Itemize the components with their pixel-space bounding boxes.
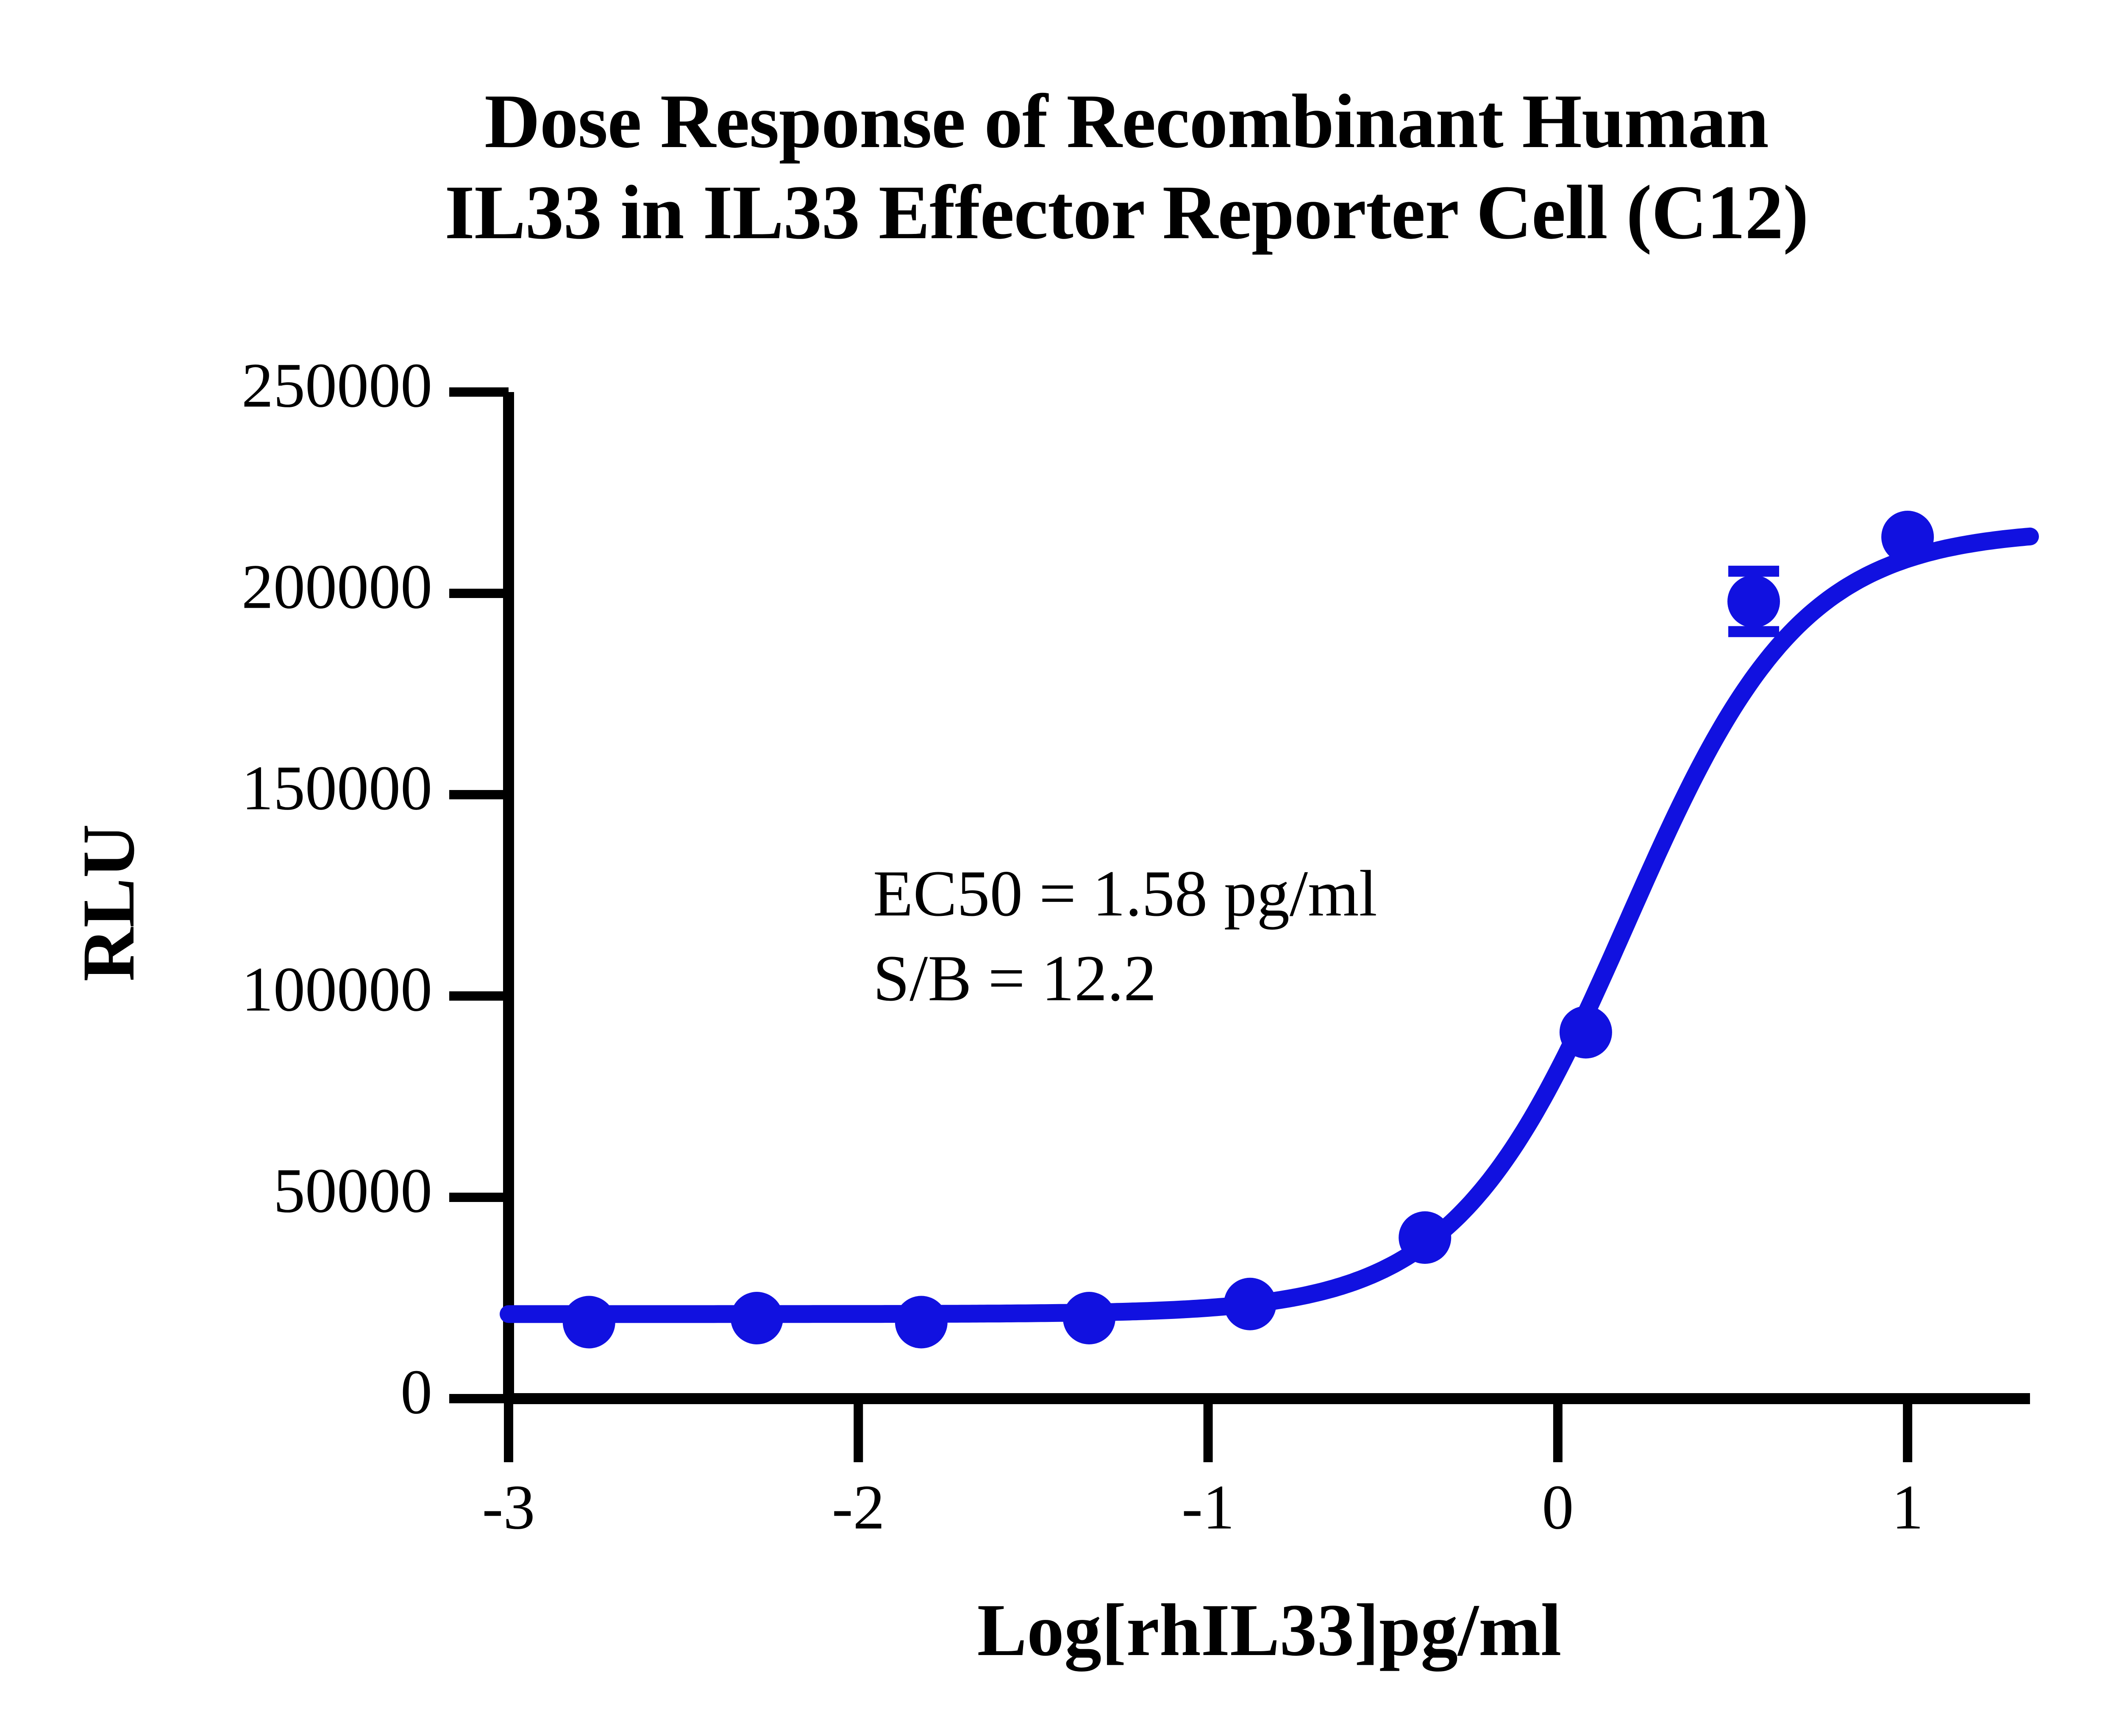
- y-tick-marks: [449, 392, 509, 1399]
- y-tick-label: 200000: [242, 551, 432, 622]
- x-tick-label: 1: [1892, 1472, 1924, 1542]
- ec50-annotation: EC50 = 1.58 pg/ml: [873, 857, 1377, 930]
- data-point-marker: [1727, 575, 1780, 628]
- y-tick-label: 150000: [242, 753, 432, 823]
- plot-area: 050000100000150000200000250000 -3-2-101 …: [0, 0, 2119, 1736]
- data-point-marker: [563, 1296, 615, 1349]
- y-tick-label: 100000: [242, 954, 432, 1024]
- y-tick-label: 50000: [273, 1155, 432, 1226]
- y-tick-labels: 050000100000150000200000250000: [242, 350, 432, 1427]
- y-tick-label: 0: [400, 1357, 432, 1427]
- sb-annotation: S/B = 12.2: [873, 942, 1157, 1015]
- x-tick-label: -1: [1182, 1472, 1235, 1542]
- data-point-marker: [1224, 1278, 1276, 1330]
- x-tick-label: -2: [832, 1472, 885, 1542]
- x-axis-title: Log[rhIL33]pg/ml: [977, 1589, 1562, 1672]
- annotation-block: EC50 = 1.58 pg/ml S/B = 12.2: [873, 857, 1377, 1015]
- x-tick-label: 0: [1542, 1472, 1574, 1542]
- data-point-marker: [1560, 1006, 1612, 1059]
- data-point-marker: [1399, 1211, 1451, 1264]
- y-axis-title: RLU: [67, 824, 150, 982]
- x-tick-label: -3: [482, 1472, 535, 1542]
- data-point-marker: [1881, 511, 1934, 563]
- data-point-marker: [1063, 1292, 1115, 1344]
- data-point-marker: [895, 1296, 948, 1349]
- x-tick-labels: -3-2-101: [482, 1472, 1924, 1542]
- y-tick-label: 250000: [242, 350, 432, 420]
- data-point-marker: [731, 1292, 783, 1344]
- x-tick-marks: [509, 1399, 1908, 1462]
- chart-figure: Dose Response of Recombinant Human IL33 …: [0, 0, 2119, 1736]
